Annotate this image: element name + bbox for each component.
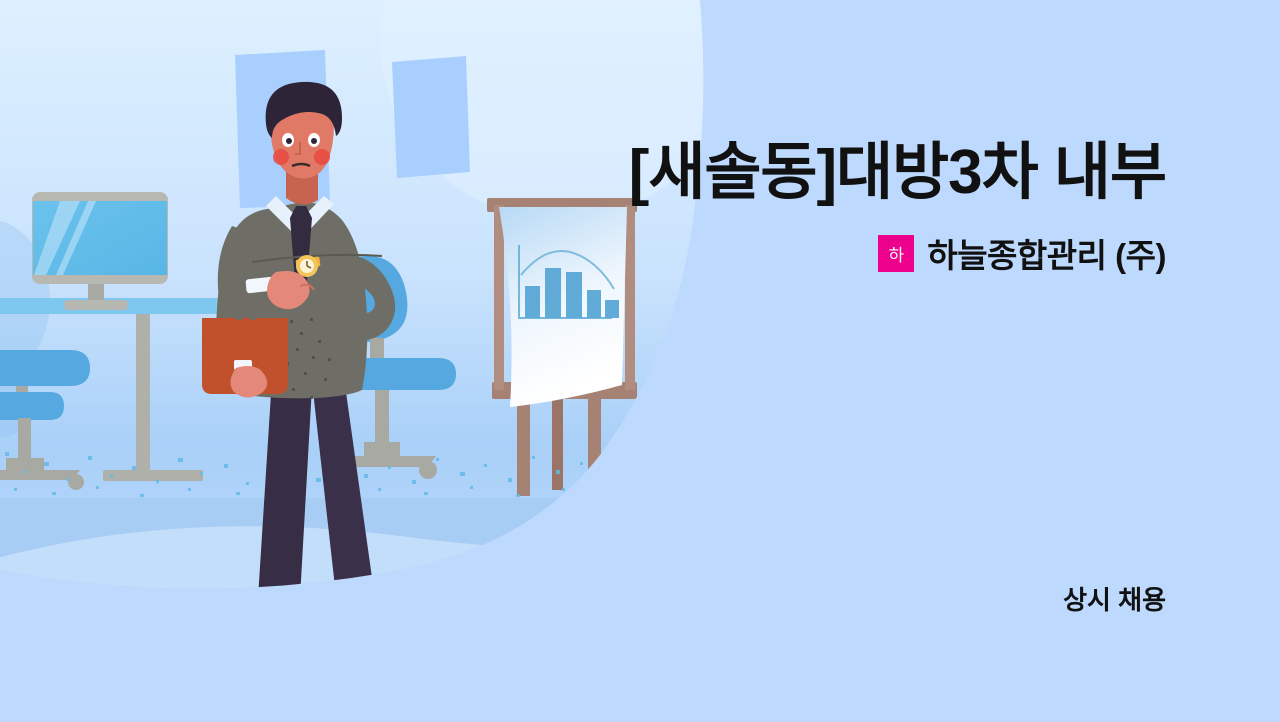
cheek-left <box>273 149 289 165</box>
monitor-neck <box>88 284 104 302</box>
floor-highlight <box>0 526 760 620</box>
easel-frame-right <box>625 205 635 390</box>
company-logo-badge: 하 <box>878 235 914 272</box>
chair-right-hub <box>364 442 400 456</box>
chair-left-back <box>0 350 90 386</box>
job-title[interactable]: [새솔동]대방3차 내부 <box>629 139 1166 207</box>
monitor-base <box>64 300 128 310</box>
easel-leg-center <box>552 396 563 490</box>
eye-left-pupil <box>286 138 292 144</box>
chart-bar-5 <box>605 300 619 318</box>
chart-bar-3 <box>566 272 582 318</box>
chair-left-wheel <box>68 474 84 490</box>
chair-right-stem <box>375 390 389 450</box>
chair-left-stem <box>18 418 31 462</box>
wall-poster-right <box>392 56 470 178</box>
easel-frame-left <box>494 205 504 390</box>
company-row[interactable]: 하 하늘종합관리 (주) <box>878 229 1166 277</box>
chair-left-seat <box>0 392 64 420</box>
shoe-right <box>323 579 401 600</box>
desk-foot <box>103 470 203 481</box>
easel-leg-right <box>588 396 601 496</box>
easel-leg-left <box>517 396 530 496</box>
chart-bar-1 <box>525 286 540 318</box>
chart-bar-2 <box>545 268 561 318</box>
eye-right-pupil <box>311 138 317 144</box>
chair-left-hub <box>6 458 44 470</box>
chart-bar-4 <box>587 290 601 318</box>
desk-leg <box>136 314 150 478</box>
illustration-blob <box>0 0 760 620</box>
office-illustration <box>0 0 760 620</box>
cheek-right <box>314 149 330 165</box>
company-name[interactable]: 하늘종합관리 (주) <box>927 229 1166 277</box>
shoe-left <box>248 586 314 602</box>
job-posting-banner: [새솔동]대방3차 내부 하 하늘종합관리 (주) 상시 채용 <box>0 0 1280 722</box>
recruit-status: 상시 채용 <box>1063 580 1166 617</box>
chair-right-wheel <box>419 461 437 479</box>
